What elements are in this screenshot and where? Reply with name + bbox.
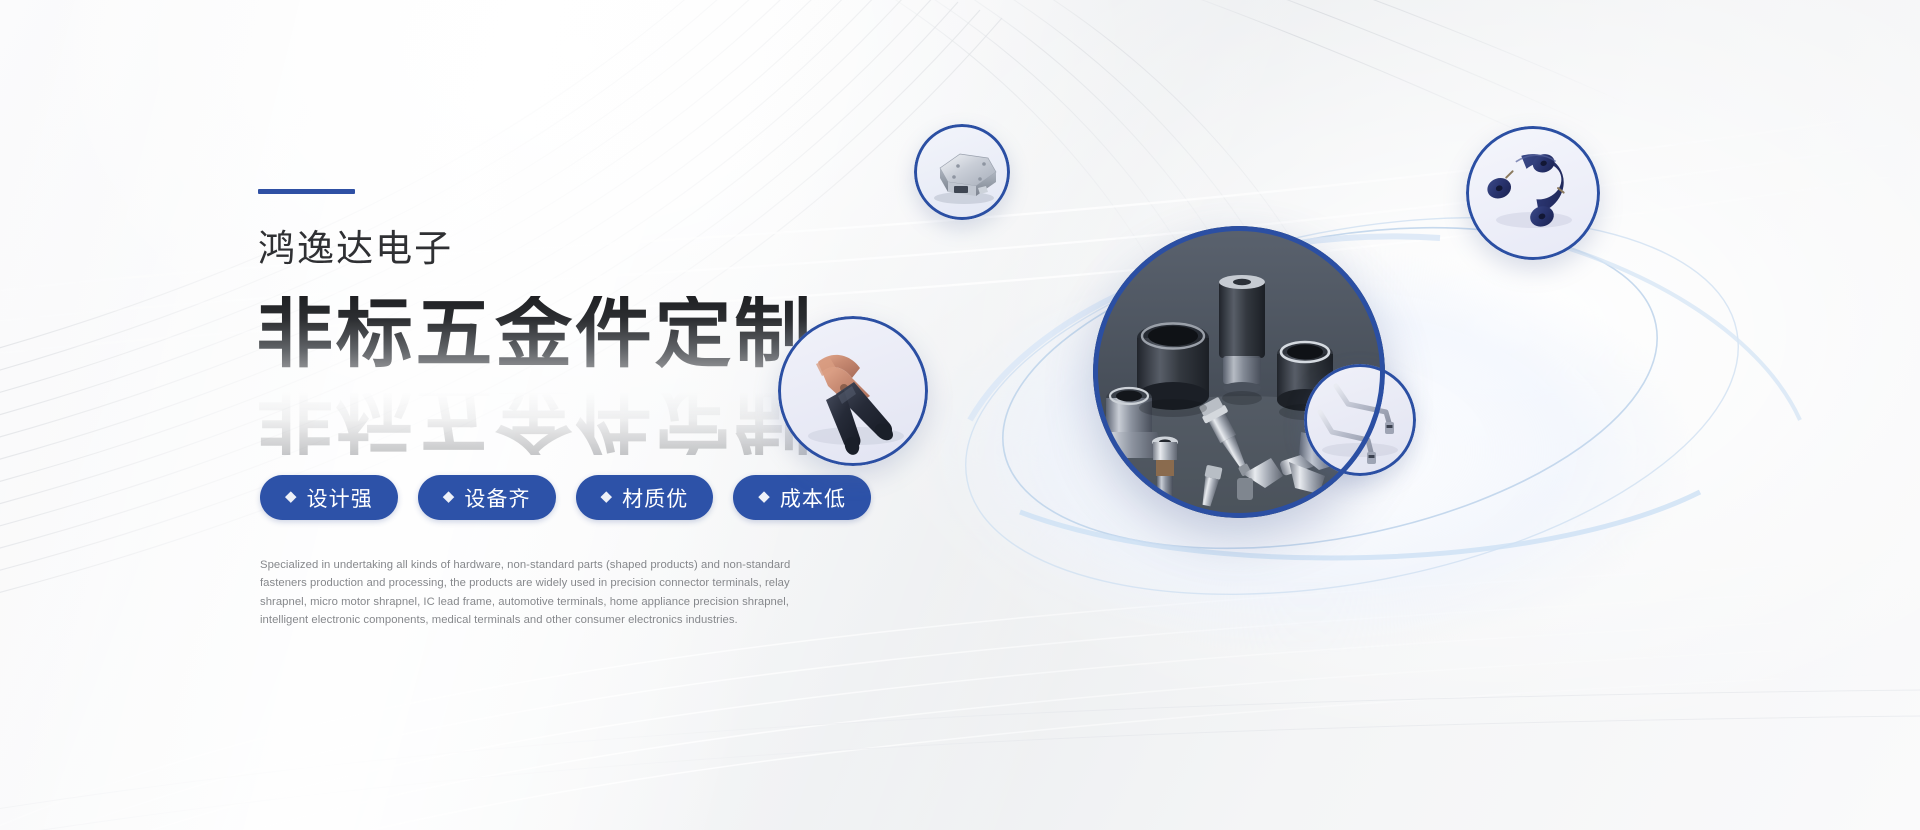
showcase-bubble-enclosure[interactable] (914, 124, 1010, 220)
bent-metal-pins-image (1304, 364, 1416, 476)
diamond-icon: ◆ (285, 489, 298, 504)
feature-pill-equipment[interactable]: ◆ 设备齐 (418, 475, 556, 520)
feature-pill-label: 设备齐 (464, 483, 530, 513)
diamond-icon: ◆ (758, 489, 771, 504)
feature-pill-label: 成本低 (780, 483, 846, 513)
showcase-bubble-clamp[interactable] (778, 316, 928, 466)
showcase-bubble-pins[interactable] (1304, 364, 1416, 476)
accent-rule (258, 189, 355, 194)
feature-pill-material[interactable]: ◆ 材质优 (576, 475, 714, 520)
brand-name: 鸿逸达电子 (258, 227, 453, 271)
blue-retaining-ring-image (1466, 126, 1600, 260)
showcase-bubble-retaining-ring[interactable] (1466, 126, 1600, 260)
feature-pill-label: 设计强 (307, 483, 373, 513)
copper-alligator-clamp-image (778, 316, 928, 466)
diamond-icon: ◆ (443, 489, 456, 504)
feature-pill-list: ◆ 设计强 ◆ 设备齐 ◆ 材质优 ◆ 成本低 (260, 475, 871, 520)
product-showcase (900, 120, 1920, 640)
feature-pill-cost[interactable]: ◆ 成本低 (733, 475, 871, 520)
sheet-metal-enclosure-image (914, 124, 1010, 220)
intro-paragraph: Specialized in undertaking all kinds of … (260, 556, 822, 630)
feature-pill-design[interactable]: ◆ 设计强 (260, 475, 398, 520)
hero-banner: 鸿逸达电子 非标五金件定制 非标五金件定制 非标五金件定制 ◆ 设计强 ◆ 设备… (0, 0, 1920, 830)
diamond-icon: ◆ (601, 489, 614, 504)
feature-pill-label: 材质优 (622, 483, 688, 513)
